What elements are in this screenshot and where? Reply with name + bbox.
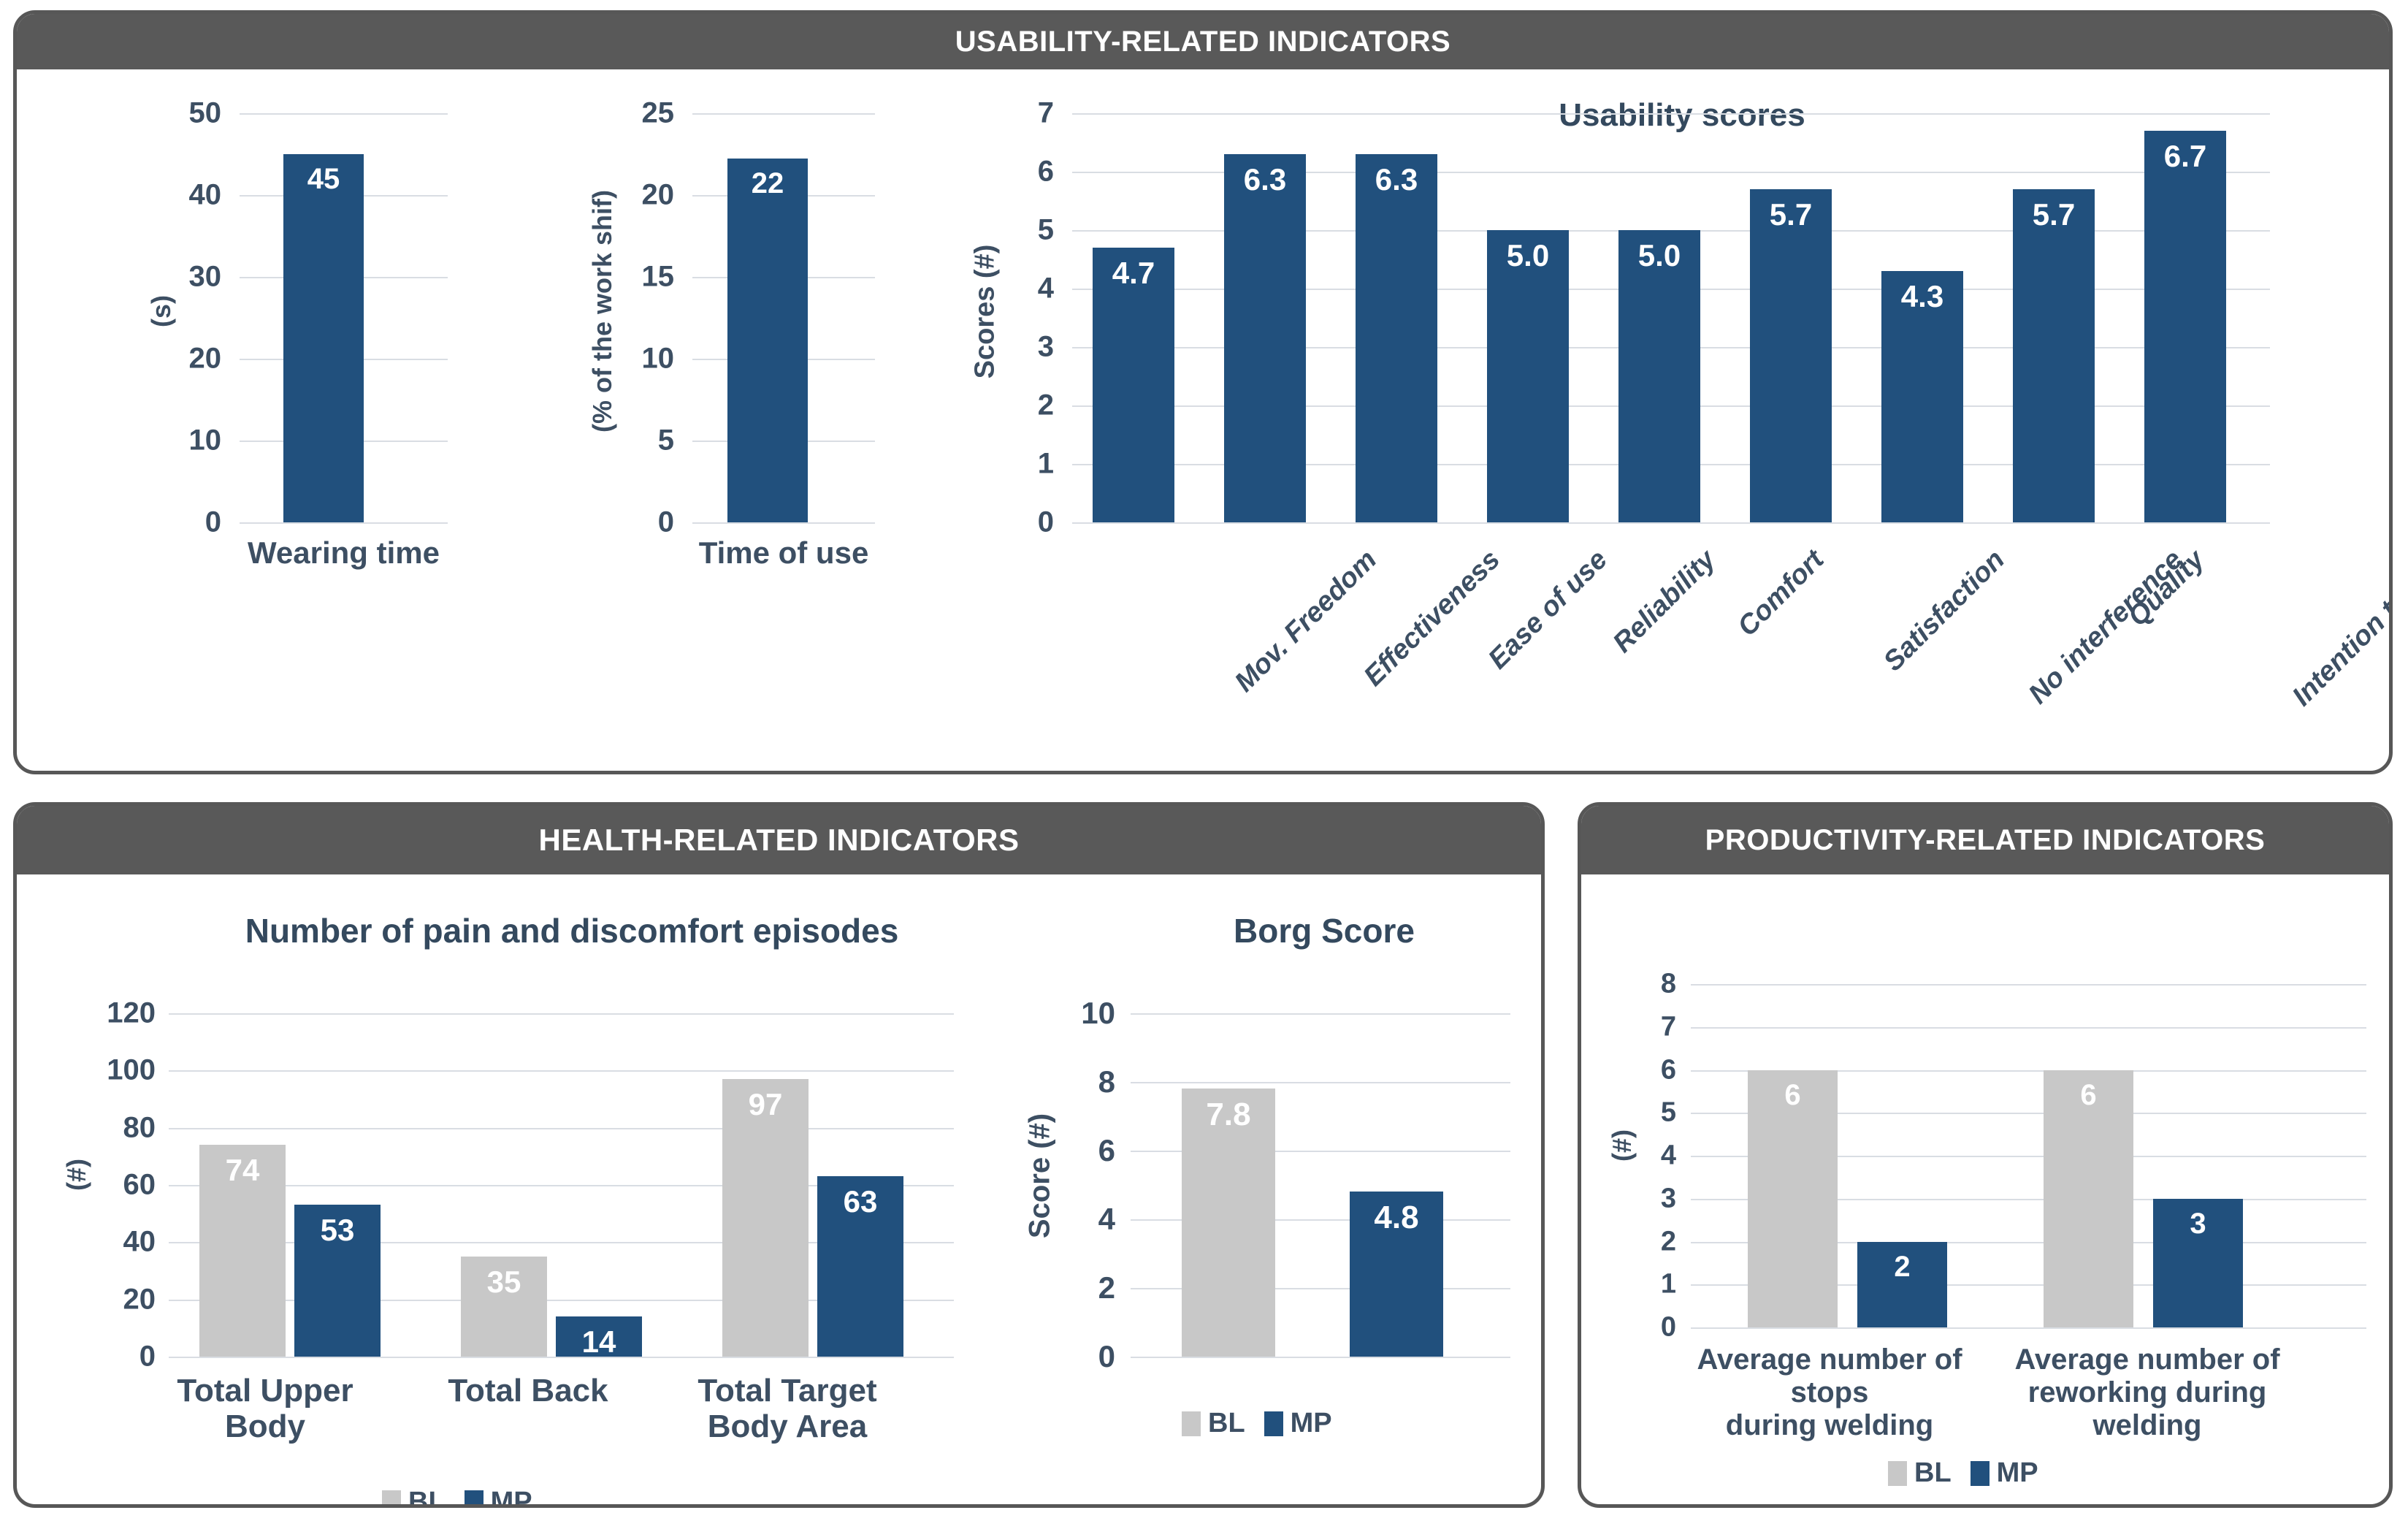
xlabel-intention-to-use: Intention to use <box>2287 544 2393 712</box>
legend-swatch-mp-icon <box>465 1490 483 1509</box>
bar-mp-total-upper-body[interactable]: 53 <box>294 1205 381 1357</box>
chart-usability-scores-plot: 4.7 6.3 6.3 5.0 5.0 5.7 4.3 <box>1072 113 2270 522</box>
bar-ease-of-use[interactable]: 6.3 <box>1356 154 1437 522</box>
bar-bl-reworking-during-welding[interactable]: 6 <box>2044 1070 2133 1328</box>
bar-wearing-time[interactable]: 45 <box>283 154 364 522</box>
bar-quality[interactable]: 5.7 <box>2013 189 2095 522</box>
bar-group: 6 2 6 3 <box>1691 984 2366 1327</box>
chart-wearing-time-plot: 45 <box>240 113 448 522</box>
legend-swatch-bl-icon <box>1182 1411 1201 1436</box>
panel-health-title: HEALTH-RELATED INDICATORS <box>17 806 1541 874</box>
xlabel-total-upper-body: Total Upper Body <box>137 1373 393 1445</box>
legend-entry-mp[interactable]: MP <box>1971 1457 2038 1489</box>
panel-productivity-body: (#) 8 7 6 5 4 3 2 1 0 <box>1581 874 2389 1507</box>
chart-wearing-time-yaxis: 50 40 30 20 10 0 <box>141 113 221 522</box>
bar-bl-borg-score[interactable]: 7.8 <box>1182 1089 1275 1357</box>
bar-group: 22 <box>692 113 875 522</box>
legend-swatch-bl-icon <box>1888 1461 1907 1486</box>
chart-wearing-time: (s) 50 40 30 20 10 0 <box>141 113 448 522</box>
chart-usability-scores: Usability scores Scores (#) 7 6 5 4 3 2 … <box>952 113 2274 522</box>
panel-health: HEALTH-RELATED INDICATORS Number of pain… <box>13 802 1545 1508</box>
chart-time-of-use: (% of the work shif) 25 20 15 10 5 0 <box>550 113 864 522</box>
chart-borg-score-title: Borg Score <box>1149 911 1499 950</box>
xlabel-mov-freedom: Mov. Freedom <box>1229 544 1383 698</box>
bar-group: 74 53 35 14 97 63 <box>169 1013 954 1357</box>
bar-mp-total-target-body-area[interactable]: 63 <box>817 1176 903 1357</box>
legend-entry-bl[interactable]: BL <box>1888 1457 1952 1489</box>
chart-productivity-yaxis: 8 7 6 5 4 3 2 1 0 <box>1618 984 1676 1327</box>
bar-mp-total-back[interactable]: 14 <box>556 1316 642 1357</box>
xlabel-reliability: Reliability <box>1608 544 1722 659</box>
legend-borg-score: BL MP <box>1182 1408 1332 1439</box>
chart-time-of-use-plot: 22 <box>692 113 875 522</box>
bar-mp-borg-score[interactable]: 4.8 <box>1350 1192 1443 1357</box>
bar-group: 7.8 4.8 <box>1131 1013 1510 1357</box>
legend-entry-mp[interactable]: MP <box>1264 1408 1332 1439</box>
panel-usability: USABILITY-RELATED INDICATORS (s) 50 40 3… <box>13 10 2393 774</box>
dashboard-root: USABILITY-RELATED INDICATORS (s) 50 40 3… <box>0 0 2408 1521</box>
xlabel-stops-during-welding: Average number of stops during welding <box>1676 1343 1983 1441</box>
xlabel-reworking-during-welding: Average number of reworking during weldi… <box>1983 1343 2312 1441</box>
chart-borg-score-yaxis: 10 8 6 4 2 0 <box>1050 1013 1115 1357</box>
xlabel-wearing-time: Wearing time <box>240 535 448 570</box>
panel-health-body: Number of pain and discomfort episodes (… <box>17 874 1541 1507</box>
chart-pain-episodes: Number of pain and discomfort episodes (… <box>61 1013 959 1357</box>
chart-pain-episodes-title: Number of pain and discomfort episodes <box>177 911 966 950</box>
legend-entry-bl[interactable]: BL <box>382 1487 446 1508</box>
panel-usability-body: (s) 50 40 30 20 10 0 <box>17 69 2389 769</box>
legend-pain-episodes: BL MP <box>382 1487 532 1508</box>
legend-label-bl: BL <box>1208 1408 1245 1439</box>
bar-intention-to-use[interactable]: 6.7 <box>2144 131 2226 522</box>
chart-borg-score: Borg Score Score (#) 10 8 6 4 2 0 <box>1017 1013 1514 1357</box>
panel-productivity: PRODUCTIVITY-RELATED INDICATORS (#) 8 7 … <box>1578 802 2393 1508</box>
legend-swatch-mp-icon <box>1264 1411 1283 1436</box>
legend-swatch-mp-icon <box>1971 1461 1990 1486</box>
bar-comfort[interactable]: 5.0 <box>1618 230 1700 522</box>
legend-entry-bl[interactable]: BL <box>1182 1408 1245 1439</box>
panel-productivity-title: PRODUCTIVITY-RELATED INDICATORS <box>1581 806 2389 874</box>
bar-bl-stops-during-welding[interactable]: 6 <box>1748 1070 1838 1328</box>
legend-label-mp: MP <box>491 1487 532 1508</box>
chart-time-of-use-yaxis: 25 20 15 10 5 0 <box>594 113 674 522</box>
chart-productivity: (#) 8 7 6 5 4 3 2 1 0 <box>1596 984 2370 1327</box>
legend-productivity: BL MP <box>1888 1457 2038 1489</box>
bar-mp-reworking-during-welding[interactable]: 3 <box>2153 1199 2243 1327</box>
xlabel-time-of-use: Time of use <box>667 535 901 570</box>
bar-reliability[interactable]: 5.0 <box>1487 230 1569 522</box>
legend-label-bl: BL <box>1914 1457 1952 1489</box>
bar-no-interference[interactable]: 4.3 <box>1881 271 1963 522</box>
xlabel-satisfaction: Satisfaction <box>1878 544 2011 678</box>
bar-bl-total-upper-body[interactable]: 74 <box>199 1145 286 1357</box>
bar-effectiveness[interactable]: 6.3 <box>1224 154 1306 522</box>
bar-bl-total-target-body-area[interactable]: 97 <box>722 1079 809 1357</box>
legend-entry-mp[interactable]: MP <box>465 1487 532 1508</box>
chart-pain-episodes-yaxis: 120 100 80 60 40 20 0 <box>61 1013 156 1357</box>
bar-satisfaction[interactable]: 5.7 <box>1750 189 1832 522</box>
bar-bl-total-back[interactable]: 35 <box>461 1257 547 1357</box>
bar-time-of-use[interactable]: 22 <box>727 159 808 522</box>
chart-usability-scores-yaxis: 7 6 5 4 3 2 1 0 <box>995 113 1054 522</box>
chart-pain-episodes-plot: 74 53 35 14 97 63 <box>169 1013 954 1357</box>
bar-mp-stops-during-welding[interactable]: 2 <box>1857 1242 1947 1328</box>
legend-label-bl: BL <box>408 1487 446 1508</box>
bar-mov-freedom[interactable]: 4.7 <box>1093 248 1174 522</box>
legend-label-mp: MP <box>1997 1457 2038 1489</box>
bar-group: 4.7 6.3 6.3 5.0 5.0 5.7 4.3 <box>1072 113 2270 522</box>
bar-group: 45 <box>240 113 448 522</box>
legend-swatch-bl-icon <box>382 1490 401 1509</box>
xlabel-total-back: Total Back <box>400 1373 656 1408</box>
chart-borg-score-plot: 7.8 4.8 <box>1131 1013 1510 1357</box>
panel-usability-title: USABILITY-RELATED INDICATORS <box>17 14 2389 69</box>
xlabel-comfort: Comfort <box>1732 544 1830 643</box>
chart-productivity-plot: 6 2 6 3 <box>1691 984 2366 1327</box>
xlabel-total-target-body-area: Total Target Body Area <box>660 1373 915 1445</box>
legend-label-mp: MP <box>1291 1408 1332 1439</box>
